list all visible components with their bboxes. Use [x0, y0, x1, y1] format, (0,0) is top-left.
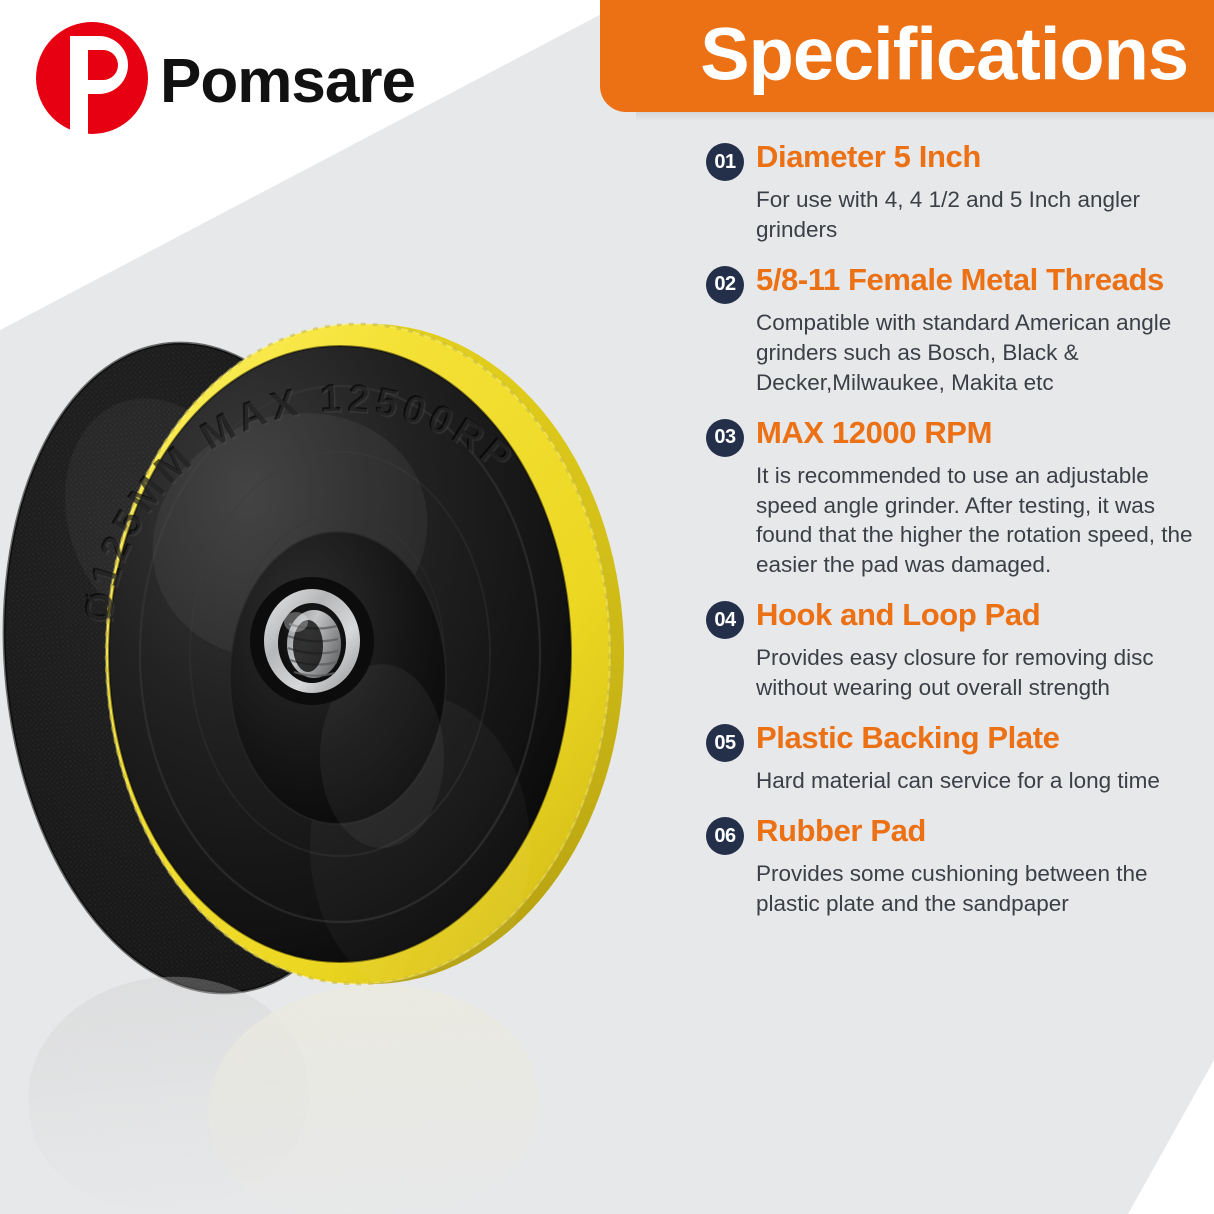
- spec-description: Hard material can service for a long tim…: [756, 766, 1200, 796]
- spec-item-06: 06 Rubber Pad Provides some cushioning b…: [706, 814, 1206, 919]
- spec-item-03: 03 MAX 12000 RPM It is recommended to us…: [706, 416, 1206, 581]
- spec-description: It is recommended to use an adjustable s…: [756, 461, 1200, 581]
- spec-item-01: 01 Diameter 5 Inch For use with 4, 4 1/2…: [706, 140, 1206, 245]
- spec-description: For use with 4, 4 1/2 and 5 Inch angler …: [756, 185, 1200, 245]
- specifications-list: 01 Diameter 5 Inch For use with 4, 4 1/2…: [706, 140, 1206, 937]
- spec-description: Provides easy closure for removing disc …: [756, 643, 1200, 703]
- spec-header: 01 Diameter 5 Inch: [706, 140, 1206, 181]
- status-badge: 06: [706, 817, 744, 855]
- banner-shadow: [636, 112, 1214, 121]
- infographic-canvas: Specifications Pomsare: [0, 0, 1214, 1214]
- spec-header: 05 Plastic Backing Plate: [706, 721, 1206, 762]
- brand-name: Pomsare: [160, 51, 415, 113]
- spec-header: 03 MAX 12000 RPM: [706, 416, 1206, 457]
- spec-title: Plastic Backing Plate: [756, 721, 1059, 756]
- spec-description: Provides some cushioning between the pla…: [756, 859, 1200, 919]
- hook-and-loop-backing-pad-photo: Ø125MM MAX 12500RPM Ø125MM MAX 12500RPM: [0, 286, 680, 1046]
- spec-item-02: 02 5/8-11 Female Metal Threads Compatibl…: [706, 263, 1206, 398]
- page-title: Specifications: [700, 18, 1188, 92]
- spec-header: 04 Hook and Loop Pad: [706, 598, 1206, 639]
- spec-header: 06 Rubber Pad: [706, 814, 1206, 855]
- logo-letter-p-bowl-counter: [88, 50, 118, 80]
- spec-title: Rubber Pad: [756, 814, 926, 849]
- status-badge: 04: [706, 601, 744, 639]
- spec-title: MAX 12000 RPM: [756, 416, 992, 451]
- spec-item-05: 05 Plastic Backing Plate Hard material c…: [706, 721, 1206, 796]
- status-badge: 01: [706, 143, 744, 181]
- spec-title: Diameter 5 Inch: [756, 140, 981, 175]
- spec-title: 5/8-11 Female Metal Threads: [756, 263, 1164, 298]
- spec-header: 02 5/8-11 Female Metal Threads: [706, 263, 1206, 304]
- spec-description: Compatible with standard American angle …: [756, 308, 1200, 398]
- pomsare-circle-p-logo-icon: [28, 18, 156, 146]
- spec-title: Hook and Loop Pad: [756, 598, 1040, 633]
- specifications-banner: Specifications: [600, 0, 1214, 112]
- metal-threaded-hub-part: [250, 577, 374, 705]
- status-badge: 03: [706, 419, 744, 457]
- spec-item-04: 04 Hook and Loop Pad Provides easy closu…: [706, 598, 1206, 703]
- status-badge: 05: [706, 724, 744, 762]
- status-badge: 02: [706, 266, 744, 304]
- brand-logo: Pomsare: [28, 18, 415, 146]
